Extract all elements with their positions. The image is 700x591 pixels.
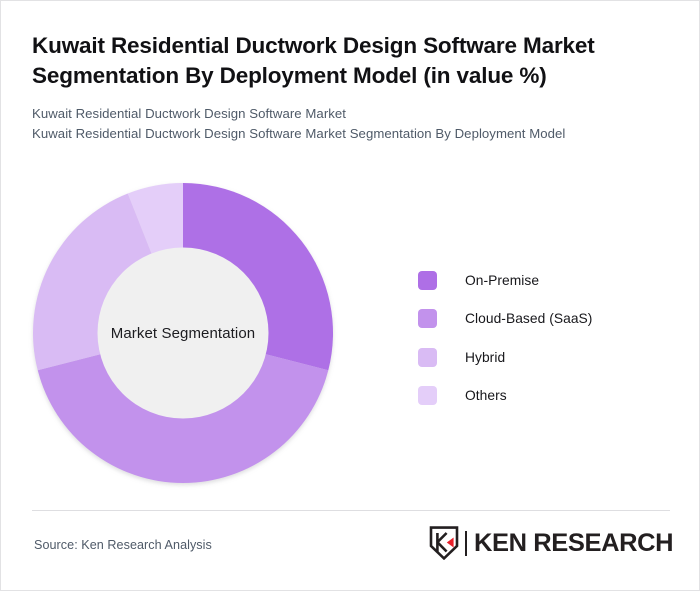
chart-subtitles: Kuwait Residential Ductwork Design Softw… [32,104,672,144]
ken-research-logo: KEN RESEARCH [429,525,669,561]
chart-header: Kuwait Residential Ductwork Design Softw… [32,31,672,144]
footer-divider [32,510,670,511]
legend-swatch [418,348,437,367]
chart-card: Kuwait Residential Ductwork Design Softw… [0,0,700,591]
ken-research-shield-icon [429,526,459,560]
legend-swatch [418,271,437,290]
donut-hole [98,248,269,419]
legend-swatch [418,309,437,328]
legend-item[interactable]: Hybrid [418,338,592,377]
legend-item[interactable]: Cloud-Based (SaaS) [418,300,592,339]
logo-wordmark: KEN RESEARCH [474,531,673,556]
logo-divider [465,531,467,556]
legend-swatch [418,386,437,405]
chart-subtitle-segmentation: Kuwait Residential Ductwork Design Softw… [32,124,672,144]
legend-item-label: Cloud-Based (SaaS) [465,311,592,326]
chart-legend: On-PremiseCloud-Based (SaaS)HybridOthers [418,261,592,415]
legend-item-label: Hybrid [465,350,505,365]
legend-item[interactable]: On-Premise [418,261,592,300]
chart-area: Market Segmentation On-PremiseCloud-Base… [1,161,700,501]
donut-chart-svg [33,183,333,483]
chart-subtitle-market: Kuwait Residential Ductwork Design Softw… [32,104,672,124]
legend-item-label: On-Premise [465,273,539,288]
donut-chart: Market Segmentation [33,183,333,483]
legend-item-label: Others [465,388,507,403]
source-note: Source: Ken Research Analysis [34,538,212,552]
legend-item[interactable]: Others [418,377,592,416]
page-title: Kuwait Residential Ductwork Design Softw… [32,31,672,91]
